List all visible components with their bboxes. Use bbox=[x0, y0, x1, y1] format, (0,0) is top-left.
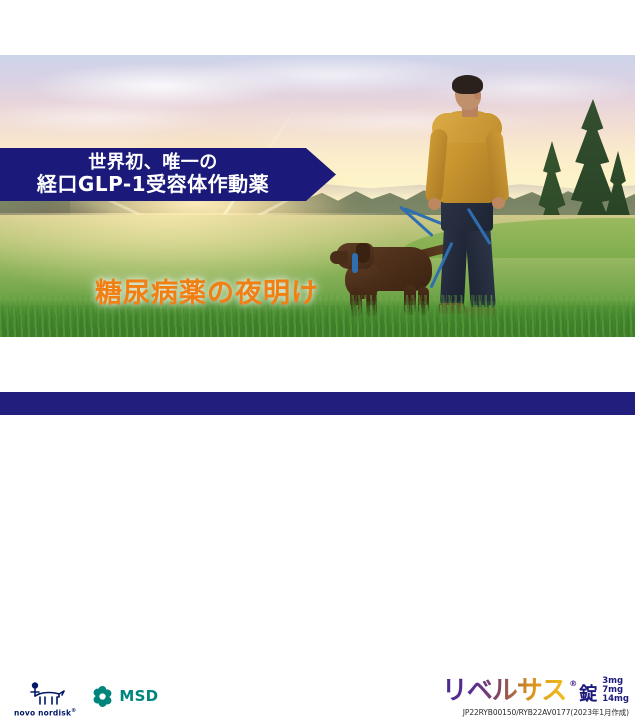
footer-accent-bar bbox=[0, 392, 635, 415]
dose-option: 14mg bbox=[602, 695, 629, 704]
banner-page: 世界初、唯一の 経口GLP-1受容体作動薬 糖尿病薬の夜明け bbox=[0, 0, 635, 475]
product-brand-name: リベルサス bbox=[442, 678, 566, 704]
headline-banner-text: 世界初、唯一の 経口GLP-1受容体作動薬 bbox=[0, 148, 306, 201]
page-title: 糖尿病薬の夜明け bbox=[95, 271, 319, 310]
product-dosage-form: 錠 bbox=[579, 686, 597, 704]
man-hair bbox=[452, 75, 483, 94]
banner-line-2: 経口GLP-1受容体作動薬 bbox=[37, 173, 269, 195]
product-doses: 3mg 7mg 14mg bbox=[602, 677, 629, 704]
man-hand-left bbox=[428, 198, 441, 210]
headline-banner: 世界初、唯一の 経口GLP-1受容体作動薬 bbox=[0, 148, 336, 201]
product-branding: リベルサス ® 錠 3mg 7mg 14mg JP22RYB00150/RYB2… bbox=[442, 677, 629, 718]
company-logos: novo nordisk® MSD bbox=[14, 681, 158, 718]
product-name-row: リベルサス ® 錠 3mg 7mg 14mg bbox=[442, 677, 629, 704]
dog-snout bbox=[330, 251, 348, 264]
dose-option: 3mg bbox=[602, 677, 623, 686]
dog-ear bbox=[356, 243, 370, 263]
page-bottom-margin bbox=[0, 415, 635, 475]
novo-nordisk-name: novo nordisk bbox=[14, 709, 71, 718]
registered-mark: ® bbox=[71, 708, 76, 714]
msd-cross-icon bbox=[92, 686, 113, 707]
man-hand-right bbox=[492, 197, 505, 209]
apis-bull-icon bbox=[23, 681, 67, 707]
dog-collar bbox=[352, 253, 358, 273]
approval-code: JP22RYB00150/RYB22AV0177(2023年1月作成) bbox=[442, 707, 629, 718]
registered-mark: ® bbox=[569, 679, 577, 688]
dose-option: 7mg bbox=[602, 686, 623, 695]
footer: novo nordisk® MSD リベルサス ® 錠 3mg 7mg 14m bbox=[0, 337, 635, 392]
hero-photo: 世界初、唯一の 経口GLP-1受容体作動薬 糖尿病薬の夜明け bbox=[0, 55, 635, 337]
banner-line-1: 世界初、唯一の bbox=[88, 153, 218, 173]
novo-nordisk-wordmark: novo nordisk® bbox=[14, 708, 76, 718]
novo-nordisk-logo: novo nordisk® bbox=[14, 681, 76, 718]
msd-logo: MSD bbox=[92, 686, 158, 707]
msd-wordmark: MSD bbox=[119, 687, 158, 705]
